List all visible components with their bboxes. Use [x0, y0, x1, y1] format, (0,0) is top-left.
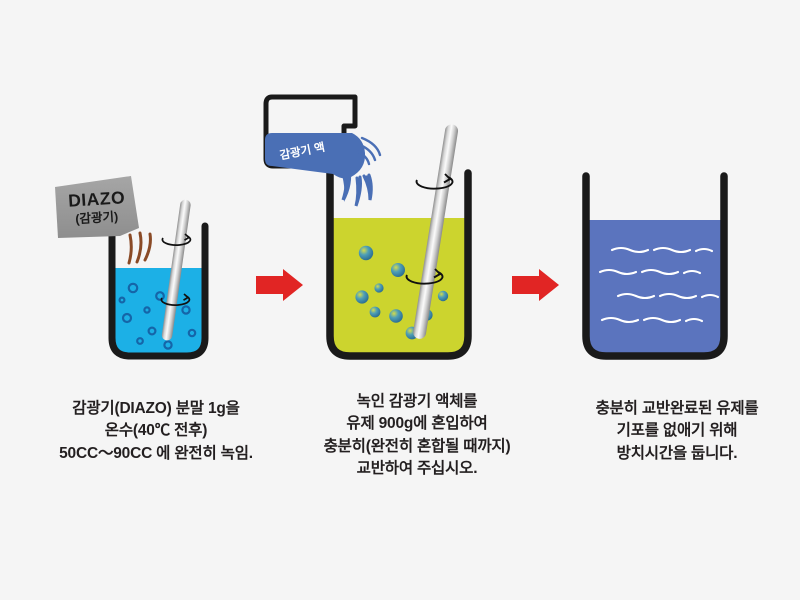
- step-1-caption: 감광기(DIAZO) 분말 1g을 온수(40℃ 전후) 50CC〜90CC 에…: [28, 398, 284, 465]
- powder-puff-icon: [129, 233, 150, 263]
- step-2-group: 감광기 액: [265, 97, 470, 360]
- caption-line: 충분히 교반완료된 유제를: [548, 398, 800, 420]
- step-1-group: DIAZO (감광기): [55, 176, 208, 360]
- arrow-2: [512, 269, 559, 301]
- step-3-group: [584, 176, 726, 360]
- process-illustration: DIAZO (감광기): [0, 0, 800, 600]
- caption-line: 유제 900g에 혼입하여: [288, 413, 546, 435]
- caption-line: 감광기(DIAZO) 분말 1g을: [28, 398, 284, 420]
- caption-line: 녹인 감광기 액체를: [288, 391, 546, 413]
- diazo-bag-title: DIAZO: [68, 187, 126, 210]
- beaker-2-liquid: [328, 218, 470, 360]
- caption-line: 기포를 없애기 위해: [548, 420, 800, 442]
- diazo-bag-subtitle: (감광기): [75, 209, 119, 227]
- pour-bottle: 감광기 액: [265, 97, 380, 206]
- diazo-bag: DIAZO (감광기): [55, 176, 139, 238]
- beaker-1-liquid: [110, 268, 208, 360]
- caption-line: 충분히(완전히 혼합될 때까지): [288, 436, 546, 458]
- arrow-1: [256, 269, 303, 301]
- caption-line: 온수(40℃ 전후): [28, 420, 284, 442]
- caption-line: 방치시간을 둡니다.: [548, 443, 800, 465]
- beaker-3-liquid: [584, 220, 726, 360]
- step-2-caption: 녹인 감광기 액체를 유제 900g에 혼입하여 충분히(완전히 혼합될 때까지…: [288, 391, 546, 481]
- caption-line: 50CC〜90CC 에 완전히 녹임.: [28, 443, 284, 465]
- caption-line: 교반하여 주십시오.: [288, 458, 546, 480]
- step-3-caption: 충분히 교반완료된 유제를 기포를 없애기 위해 방치시간을 둡니다.: [548, 398, 800, 465]
- diagram-canvas: DIAZO (감광기): [0, 0, 800, 600]
